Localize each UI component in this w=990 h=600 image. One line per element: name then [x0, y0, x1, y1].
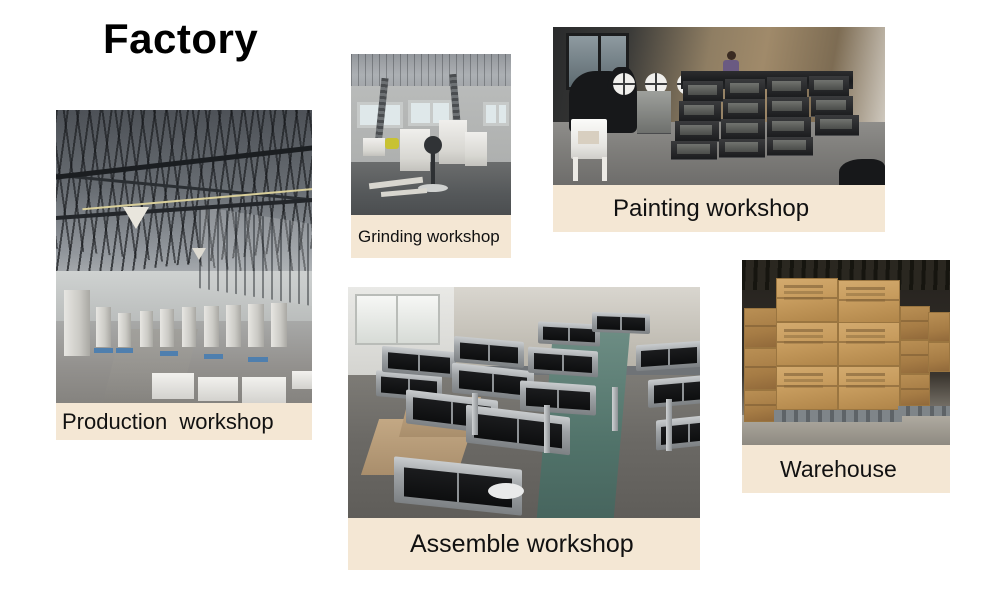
panel-warehouse[interactable]: Warehouse	[742, 260, 950, 493]
panel-production-workshop[interactable]: Production workshop	[56, 110, 312, 440]
page-title: Factory	[103, 16, 258, 62]
production-workshop-caption: Production workshop	[56, 403, 312, 440]
grinding-workshop-caption: Grinding workshop	[351, 215, 511, 258]
warehouse-caption: Warehouse	[742, 445, 950, 493]
panel-grinding-workshop[interactable]: Grinding workshop	[351, 54, 511, 258]
panel-painting-workshop[interactable]: Painting workshop	[553, 27, 885, 232]
assemble-workshop-caption: Assemble workshop	[348, 518, 700, 570]
warehouse-photo	[742, 260, 950, 445]
production-workshop-photo	[56, 110, 312, 403]
assemble-workshop-photo	[348, 287, 700, 518]
grinding-workshop-photo	[351, 54, 511, 215]
painting-workshop-photo	[553, 27, 885, 185]
painting-workshop-caption: Painting workshop	[553, 185, 885, 232]
panel-assemble-workshop[interactable]: Assemble workshop	[348, 287, 700, 570]
